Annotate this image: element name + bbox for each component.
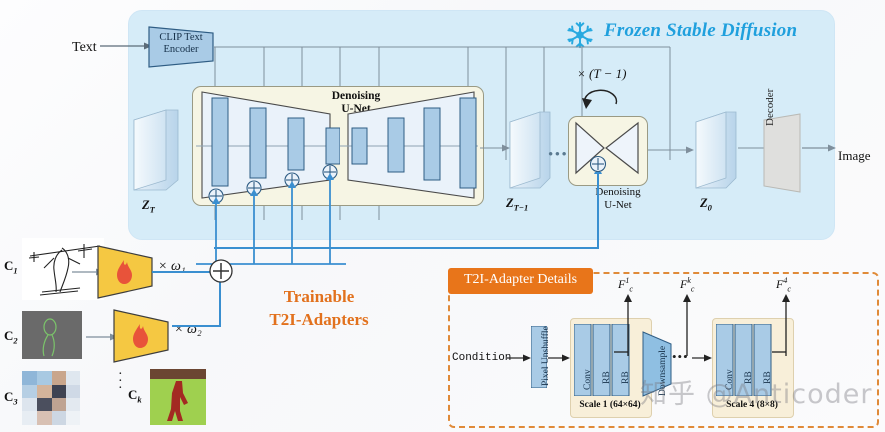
- trainable-line1: Trainable: [284, 287, 355, 306]
- unshuffle-to-scale1-arrow: [548, 352, 570, 364]
- condition-c3-label: C3: [4, 389, 18, 407]
- loop-arrow-icon: [580, 84, 628, 114]
- unet2-cap-line2: U-Net: [604, 199, 632, 211]
- scale-4-output-label: F4c: [776, 276, 791, 293]
- details-ellipsis: •••: [672, 349, 689, 365]
- scale-1-block-rb2-label: RB: [621, 371, 631, 384]
- ellipsis-to-scale4-arrow: [692, 352, 712, 364]
- t2i-adapter-details-tab-label: T2I-Adapter Details: [448, 272, 593, 288]
- fc4-sub: c: [787, 284, 791, 293]
- c2-sub: 2: [13, 336, 17, 346]
- latent-zt-label: ZT: [142, 198, 155, 215]
- adapter-1-block[interactable]: [96, 244, 154, 300]
- clip-label-line1: CLIP Text: [159, 32, 202, 43]
- scale4-output-arrow: [772, 292, 802, 356]
- clip-text-encoder-label: CLIP Text Encoder: [150, 32, 212, 56]
- color-palette-thumb: [22, 371, 80, 425]
- z0-sub: 0: [708, 203, 712, 213]
- ck-base: C: [128, 387, 137, 402]
- zt-sub: T: [150, 205, 155, 215]
- zt-base: Z: [142, 198, 150, 212]
- unet2-to-z0-arrow: [648, 142, 694, 158]
- decoder-label: Decoder: [764, 89, 776, 126]
- adapter-weighted-sum-node: [208, 258, 234, 284]
- unet-to-zt1-arrow: [480, 140, 510, 156]
- trainable-line2: T2I-Adapters: [269, 310, 368, 329]
- c1-sub: 1: [13, 266, 17, 276]
- scale1-output-arrow: [614, 292, 644, 356]
- fck-sub: c: [691, 284, 695, 293]
- c3-sub: 3: [13, 397, 17, 407]
- loop-count-label: × (T − 1): [577, 66, 626, 82]
- segmentation-thumb: [150, 369, 206, 425]
- latent-z0-label: Z0: [700, 196, 712, 213]
- scalek-output-arrow: [677, 292, 697, 356]
- adapter-to-unet2-route: [214, 172, 606, 258]
- condition-c2-label: C2: [4, 328, 18, 346]
- ck-sub: k: [137, 395, 141, 405]
- image-output-label: Image: [838, 148, 870, 164]
- fc1-sub: c: [629, 284, 633, 293]
- text-to-clip-arrow: [100, 38, 152, 54]
- scale-1-output-label: F1c: [618, 276, 633, 293]
- condition-ck-label: Ck: [128, 387, 142, 405]
- trainable-adapters-caption: Trainable T2I-Adapters: [234, 285, 404, 331]
- decoder-to-image-arrow: [802, 140, 836, 156]
- c3-base: C: [4, 389, 13, 404]
- unet2-bowtie-shape: [572, 120, 642, 180]
- conditions-vertical-ellipsis: ···: [118, 371, 123, 392]
- details-condition-label: Condition: [452, 352, 511, 364]
- keypose-thumb: [22, 311, 82, 359]
- condition-c1-label: C1: [4, 258, 18, 276]
- scale-1-block-rb1-label: RB: [602, 371, 612, 384]
- sequence-ellipsis: •••: [548, 147, 568, 164]
- scale-k-output-label: Fkc: [680, 276, 694, 293]
- latent-zt-slab: [132, 108, 180, 194]
- latent-z0-slab: [694, 110, 738, 192]
- scale-1-block-conv-label: Conv: [583, 369, 593, 390]
- c1-base: C: [4, 258, 13, 273]
- unet2-adapter-sum-node: [589, 155, 607, 173]
- text-input-label: Text: [72, 40, 97, 56]
- clip-label-line2: Encoder: [164, 44, 199, 55]
- z0-base: Z: [700, 196, 708, 210]
- condition-to-unshuffle-arrow: [507, 352, 531, 364]
- watermark: 知乎 @Anticoder: [640, 372, 872, 411]
- c2-base: C: [4, 328, 13, 343]
- diagram-canvas: Frozen Stable Diffusion Text CLIP Text E…: [0, 0, 885, 432]
